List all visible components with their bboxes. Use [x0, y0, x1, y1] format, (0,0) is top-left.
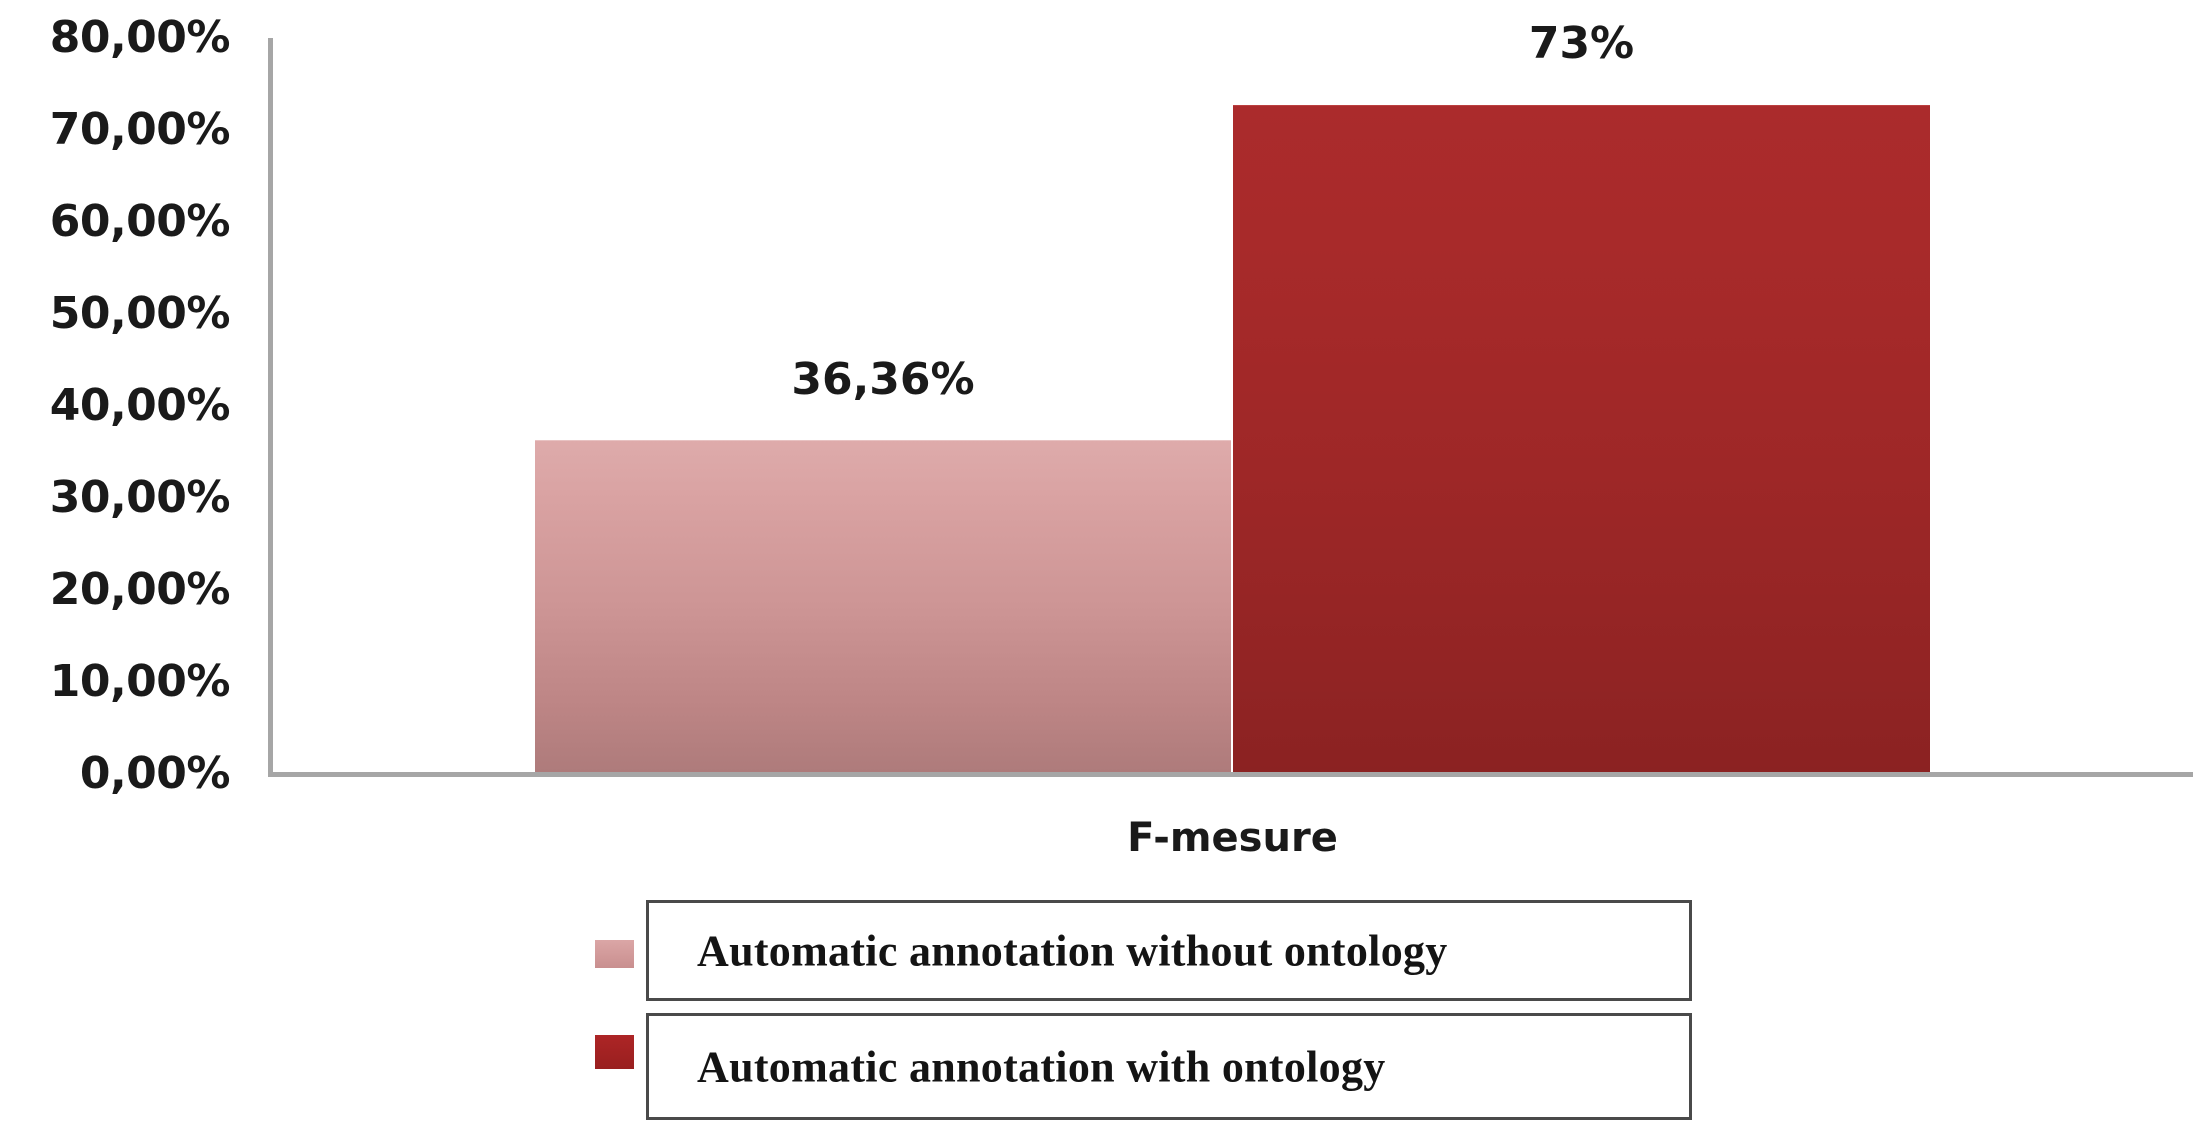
legend-label-without-ontology: Automatic annotation without ontology [697, 925, 1448, 976]
legend-item-with-ontology[interactable]: Automatic annotation with ontology [646, 1013, 1692, 1120]
legend-item-without-ontology[interactable]: Automatic annotation without ontology [646, 900, 1692, 1001]
legend-swatch-with-ontology [595, 1035, 634, 1069]
data-label-bar-2: 73% [1233, 22, 1930, 66]
bar-chart: 80,00% 70,00% 60,00% 50,00% 40,00% 30,00… [0, 0, 2205, 1144]
legend-swatch-without-ontology [595, 940, 634, 968]
legend-label-with-ontology: Automatic annotation with ontology [697, 1041, 1386, 1092]
x-axis-category-label: F-mesure [535, 818, 1930, 858]
bar-automatic-annotation-without-ontology[interactable] [535, 440, 1231, 772]
bar-automatic-annotation-with-ontology[interactable] [1233, 105, 1930, 772]
data-label-bar-1: 36,36% [535, 358, 1231, 402]
